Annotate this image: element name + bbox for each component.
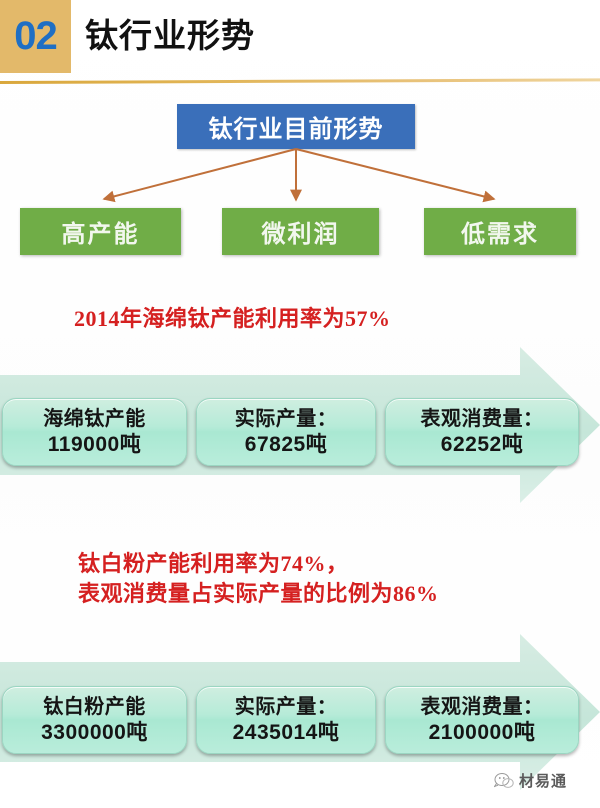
watermark: 材易通 — [494, 770, 567, 791]
diagram-connectors — [0, 145, 600, 215]
diagram-branch-label-2: 微利润 — [262, 214, 340, 249]
metric-label: 实际产量： — [235, 695, 338, 720]
metric-card: 钛白粉产能 3300000吨 — [2, 686, 187, 754]
metric-label: 实际产量： — [235, 407, 338, 432]
diagram-branch-node-2: 微利润 — [222, 208, 379, 255]
metric-label: 表观消费量： — [421, 407, 544, 432]
page-title: 钛行业形势 — [85, 8, 255, 66]
diagram-root-node: 钛行业目前形势 — [177, 104, 415, 149]
watermark-text: 材易通 — [519, 770, 567, 791]
metric-value: 2100000吨 — [429, 720, 536, 745]
metric-value: 67825吨 — [245, 432, 327, 457]
metric-value: 119000吨 — [48, 432, 141, 457]
metric-card: 实际产量： 2435014吨 — [196, 686, 376, 754]
metric-card: 表观消费量： 2100000吨 — [385, 686, 579, 754]
header-divider — [0, 78, 600, 84]
metric-value: 3300000吨 — [41, 720, 148, 745]
diagram-branch-node-1: 高产能 — [20, 208, 181, 255]
wechat-logo-icon — [494, 772, 514, 789]
section-number-badge: 02 — [0, 0, 71, 73]
diagram-branch-label-1: 高产能 — [62, 214, 140, 249]
section-number: 02 — [0, 0, 71, 73]
section-2-note-line-2: 表观消费量占实际产量的比例为86% — [78, 579, 439, 609]
section-1-note: 2014年海绵钛产能利用率为57% — [74, 304, 391, 334]
section-2-note: 钛白粉产能利用率为74%， 表观消费量占实际产量的比例为86% — [78, 549, 439, 609]
metric-label: 表观消费量： — [421, 695, 544, 720]
metric-value: 62252吨 — [441, 432, 523, 457]
metric-card: 海绵钛产能 119000吨 — [2, 398, 187, 466]
slide-canvas: 02 钛行业形势 钛行业目前形势 高产能 微利润 低需求 2014年海绵钛产能利… — [0, 0, 600, 808]
connector-arrow-left — [104, 149, 296, 199]
diagram-branch-label-3: 低需求 — [461, 214, 539, 249]
diagram-branch-node-3: 低需求 — [424, 208, 576, 255]
metric-card: 表观消费量： 62252吨 — [385, 398, 579, 466]
connector-arrow-right — [296, 149, 494, 199]
metric-label: 海绵钛产能 — [43, 407, 146, 432]
metric-label: 钛白粉产能 — [43, 695, 146, 720]
diagram-root-label: 钛行业目前形势 — [209, 109, 384, 144]
metric-card: 实际产量： 67825吨 — [196, 398, 376, 466]
section-2-note-line-1: 钛白粉产能利用率为74%， — [78, 549, 439, 579]
metric-value: 2435014吨 — [233, 720, 340, 745]
